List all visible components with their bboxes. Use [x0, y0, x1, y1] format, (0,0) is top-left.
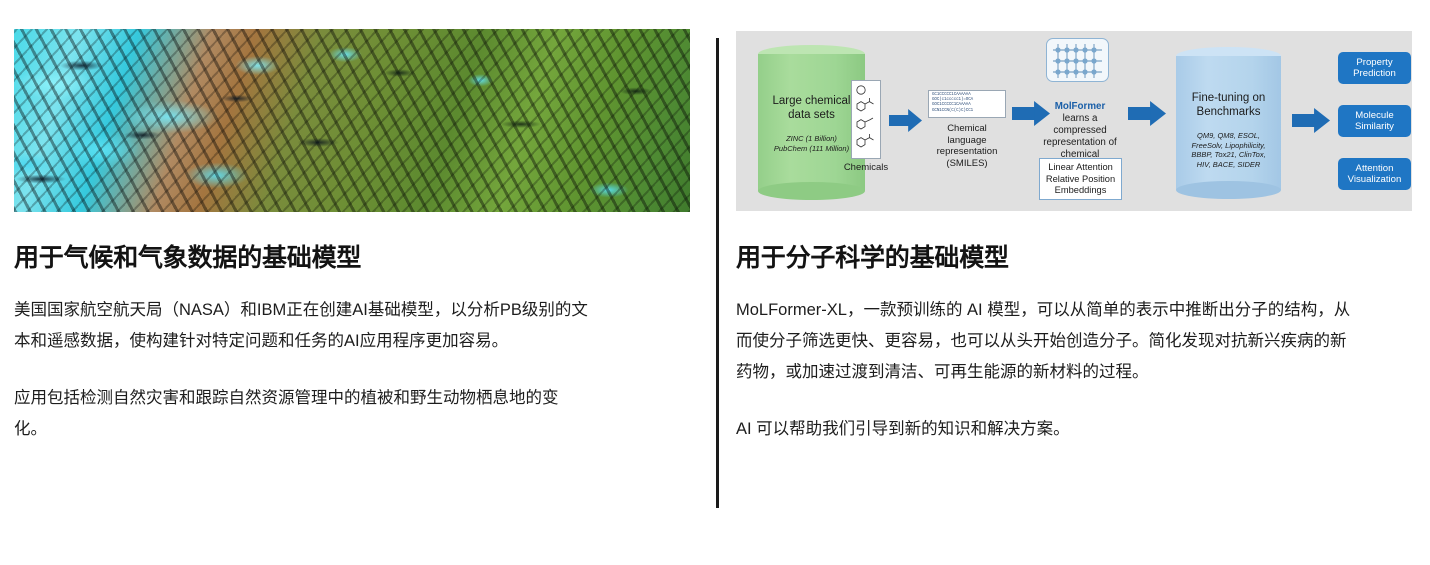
left-body-copy: 美国国家航空航天局（NASA）和IBM正在创建AI基础模型，以分析PB级别的文本… — [14, 295, 589, 445]
smiles-text-card: GC1CCCCC1CAAAAAA GOC(c1ccccc1)=OCA GOC1C… — [928, 90, 1006, 118]
finetune-sub-line1: QM9, QM8, ESOL, — [1176, 131, 1281, 141]
satellite-terrain-image — [14, 29, 690, 212]
cylinder-bottom-ellipse — [758, 182, 865, 200]
cylinder-bottom-ellipse — [1176, 181, 1281, 199]
chemicals-caption: Chemicals — [836, 162, 896, 174]
arrow-shaft — [1012, 107, 1035, 120]
arrow-shaft — [889, 115, 909, 127]
attention-techniques-box: Linear Attention Relative Position Embed… — [1039, 158, 1122, 200]
task-box-property-prediction[interactable]: Property Prediction — [1338, 52, 1411, 84]
finetune-cylinder-title: Fine-tuning on Benchmarks — [1176, 91, 1281, 119]
arrow-head — [1314, 108, 1330, 133]
finetune-sub-line4: HIV, BACE, SIDER — [1176, 160, 1281, 170]
data-cylinder-sub-line1: ZINC (1 Billion) — [758, 134, 865, 144]
right-paragraph-1: MoLFormer-XL，一款预训练的 AI 模型，可以从简单的表示中推断出分子… — [736, 295, 1356, 388]
task-2-line1: Molecule — [1355, 110, 1394, 122]
smiles-caption-line2: language — [922, 135, 1012, 147]
attention-line-2: Relative Position — [1040, 174, 1121, 186]
transformer-network-icon — [1046, 38, 1109, 82]
attention-line-1: Linear Attention — [1040, 162, 1121, 174]
chemical-structures-card — [851, 80, 881, 159]
data-cylinder-title: Large chemical data sets — [758, 94, 865, 122]
finetune-title-line2: Benchmarks — [1176, 105, 1281, 119]
finetune-benchmark-list: QM9, QM8, ESOL, FreeSolv, Lipophilicity,… — [1176, 131, 1281, 169]
molecule-structures-icon — [852, 81, 880, 158]
task-3-line2: Visualization — [1348, 174, 1402, 186]
arrow-head — [1150, 101, 1166, 126]
right-paragraph-2: AI 可以帮助我们引导到新的知识和解决方案。 — [736, 414, 1356, 445]
attention-line-3: Embeddings — [1040, 185, 1121, 197]
smiles-line-4: GCN1CCN(C(C)C)CC1 — [932, 109, 1002, 114]
task-box-attention-visualization[interactable]: Attention Visualization — [1338, 158, 1411, 190]
left-paragraph-1: 美国国家航空航天局（NASA）和IBM正在创建AI基础模型，以分析PB级别的文本… — [14, 295, 589, 357]
neural-network-glyph — [1047, 39, 1108, 81]
task-box-molecule-similarity[interactable]: Molecule Similarity — [1338, 105, 1411, 137]
finetune-sub-line3: BBBP, Tox21, ClinTox, — [1176, 150, 1281, 160]
smiles-caption: Chemical language representation (SMILES… — [922, 123, 1012, 169]
data-cylinder-sub-line2: PubChem (111 Million) — [758, 144, 865, 154]
data-cylinder-title-line1: Large chemical — [758, 94, 865, 108]
arrow-chemicals-to-smiles — [889, 109, 922, 132]
left-headline: 用于气候和气象数据的基础模型 — [14, 238, 361, 274]
task-1-line2: Prediction — [1353, 68, 1396, 80]
data-cylinder-subtitle: ZINC (1 Billion) PubChem (111 Million) — [758, 134, 865, 153]
arrow-shaft — [1292, 114, 1315, 127]
arrow-shaft — [1128, 107, 1151, 120]
smiles-caption-line4: (SMILES) — [922, 158, 1012, 170]
task-1-line1: Property — [1353, 57, 1396, 69]
arrow-head — [908, 109, 922, 132]
arrow-molformer-to-finetune — [1128, 101, 1166, 126]
arrow-finetune-to-tasks — [1292, 108, 1330, 133]
cylinder-body — [1176, 56, 1281, 190]
left-paragraph-2: 应用包括检测自然灾害和跟踪自然资源管理中的植被和野生动物栖息地的变化。 — [14, 383, 589, 445]
large-chemical-data-cylinder: Large chemical data sets ZINC (1 Billion… — [758, 45, 865, 200]
data-cylinder-title-line2: data sets — [758, 108, 865, 122]
smiles-caption-line3: representation — [922, 146, 1012, 158]
finetune-title-line1: Fine-tuning on — [1176, 91, 1281, 105]
task-3-line1: Attention — [1348, 163, 1402, 175]
molformer-pipeline-diagram: Large chemical data sets ZINC (1 Billion… — [736, 31, 1412, 211]
task-2-line2: Similarity — [1355, 121, 1394, 133]
left-panel: 用于气候和气象数据的基础模型 美国国家航空航天局（NASA）和IBM正在创建AI… — [0, 0, 716, 565]
finetune-sub-line2: FreeSolv, Lipophilicity, — [1176, 141, 1281, 151]
fine-tuning-benchmarks-cylinder: Fine-tuning on Benchmarks QM9, QM8, ESOL… — [1176, 47, 1281, 199]
smiles-caption-line1: Chemical — [922, 123, 1012, 135]
molformer-model-name: MolFormer — [1055, 101, 1106, 112]
right-headline: 用于分子科学的基础模型 — [736, 238, 1009, 274]
satellite-shadow-layer — [14, 29, 690, 212]
right-body-copy: MoLFormer-XL，一款预训练的 AI 模型，可以从简单的表示中推断出分子… — [736, 295, 1356, 445]
